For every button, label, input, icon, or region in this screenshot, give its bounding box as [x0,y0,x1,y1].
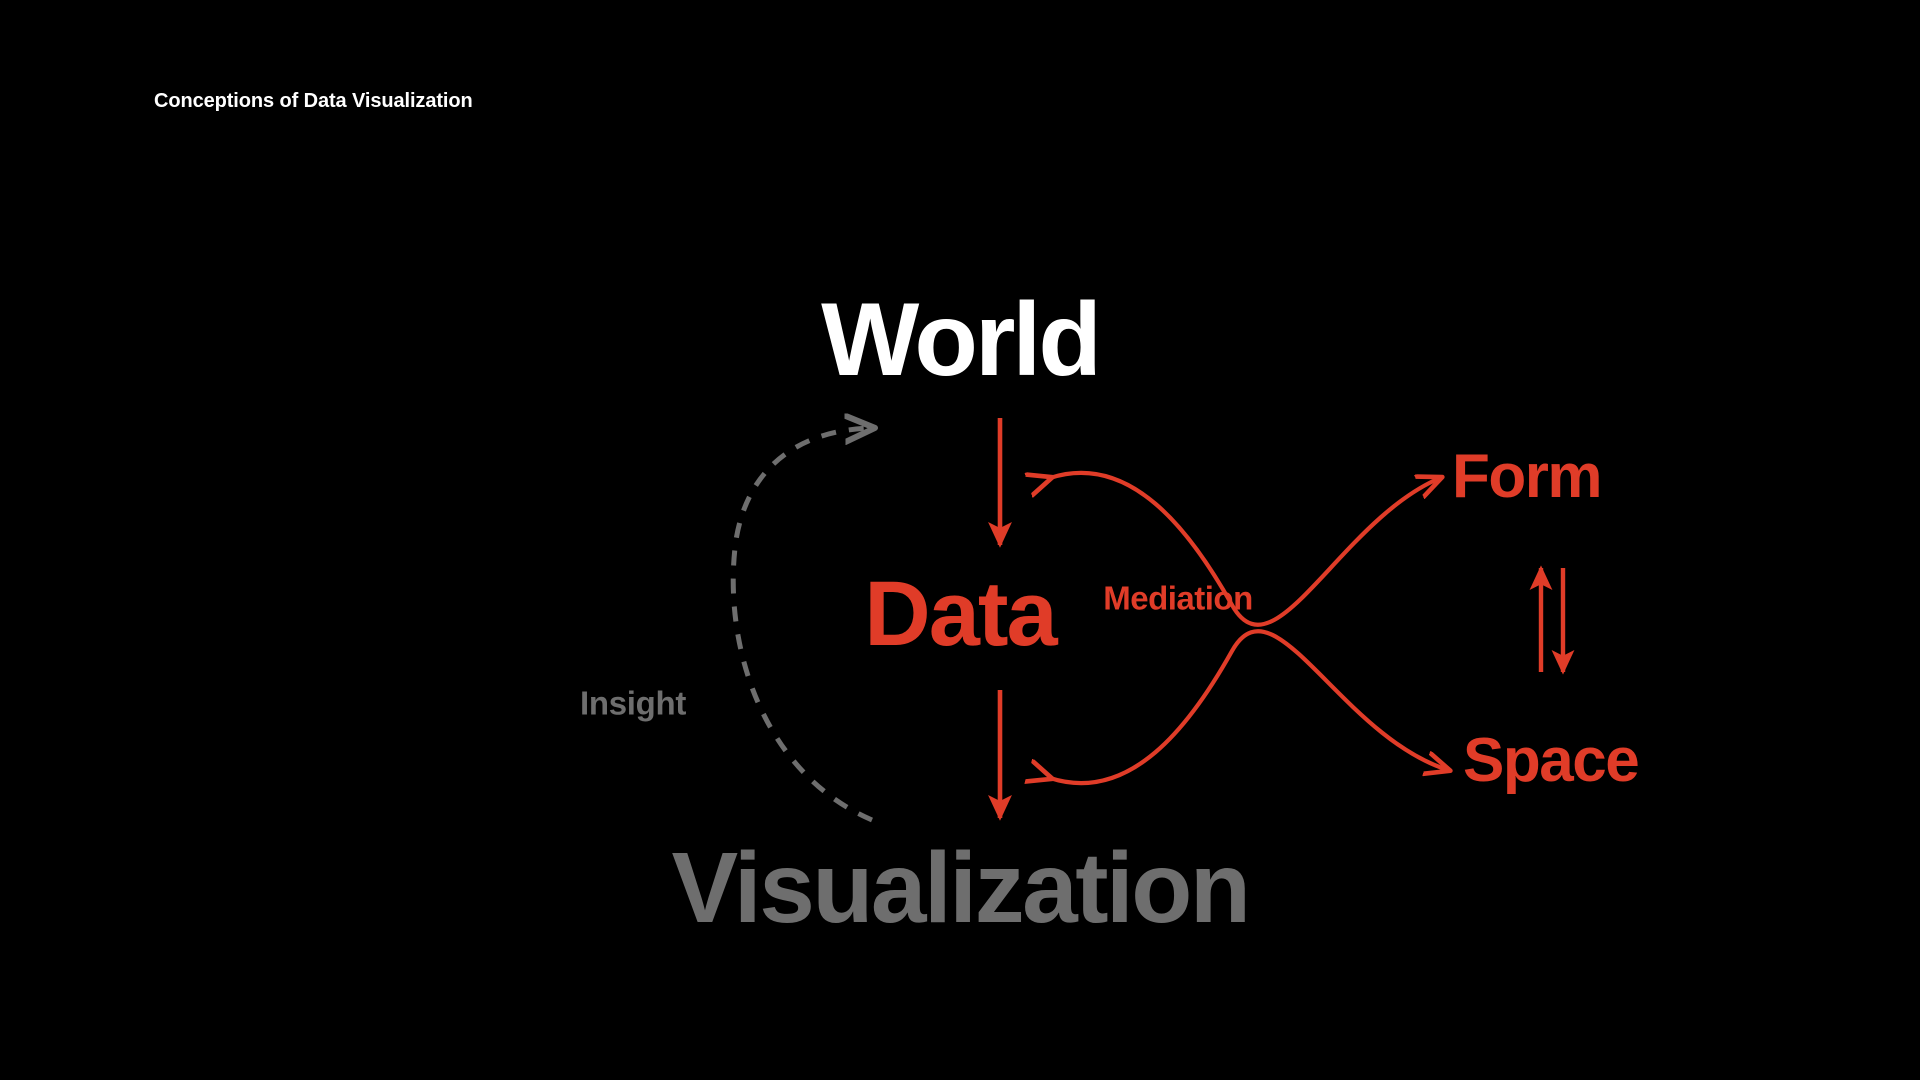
node-data[interactable]: Data [864,568,1055,660]
node-space[interactable]: Space [1463,730,1638,792]
slide-canvas: Conceptions of Data Visualization [0,0,1920,1080]
edge-data-space-mediation [1050,631,1448,783]
node-world[interactable]: World [821,288,1099,392]
edge-label-mediation: Mediation [1103,582,1253,615]
page-title: Conceptions of Data Visualization [154,90,473,113]
edge-label-insight: Insight [580,687,686,720]
node-visualization[interactable]: Visualization [672,838,1249,938]
edge-visualization-to-world [733,428,872,820]
node-form[interactable]: Form [1452,446,1601,508]
